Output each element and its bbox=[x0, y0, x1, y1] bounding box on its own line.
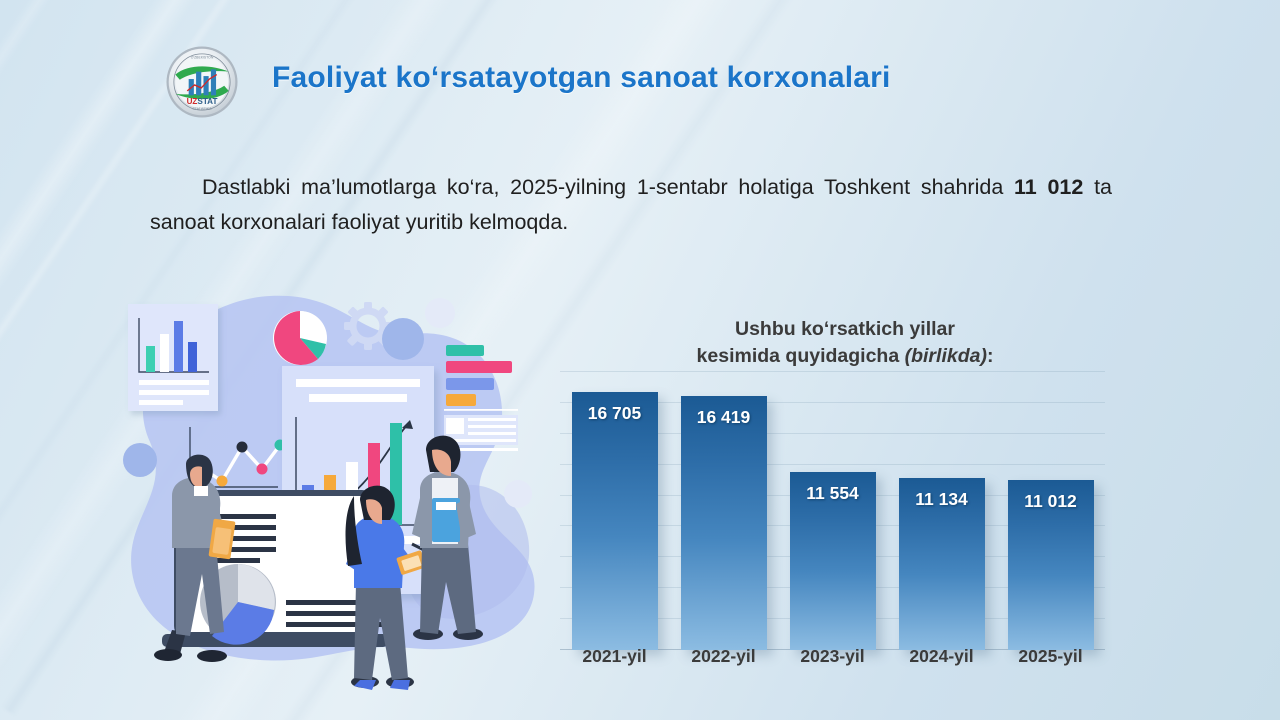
svg-text:STATISTIKA: STATISTIKA bbox=[193, 107, 213, 111]
chart-x-label: 2023-yil bbox=[778, 646, 887, 667]
chart-bar: 16 419 bbox=[681, 396, 767, 650]
chart-bar: 11 554 bbox=[790, 472, 876, 650]
chart-bar-value-label: 11 134 bbox=[899, 489, 985, 510]
chart-heading-line1: Ushbu ko‘rsatkich yillar bbox=[735, 318, 955, 340]
chart-heading-line2-after: : bbox=[987, 345, 994, 367]
paragraph-before: Dastlabki ma’lumotlarga ko‘ra, 2025-yiln… bbox=[202, 175, 1014, 199]
chart-x-axis-labels: 2021-yil2022-yil2023-yil2024-yil2025-yil bbox=[560, 646, 1105, 676]
chart-bar: 11 012 bbox=[1008, 480, 1094, 650]
chart-bar: 16 705 bbox=[572, 392, 658, 650]
intro-paragraph: Dastlabki ma’lumotlarga ko‘ra, 2025-yiln… bbox=[150, 170, 1112, 240]
page-title: Faoliyat ko‘rsatayotgan sanoat korxonala… bbox=[272, 61, 891, 95]
chart-x-label: 2021-yil bbox=[560, 646, 669, 667]
chart-heading-unit: (birlikda) bbox=[905, 345, 987, 367]
chart-bar: 11 134 bbox=[899, 478, 985, 650]
pie-chart bbox=[273, 311, 327, 365]
bar-chart-plot: 16 70516 41911 55411 13411 012 bbox=[560, 372, 1105, 650]
chart-bar-value-label: 11 012 bbox=[1008, 491, 1094, 512]
paragraph-highlight-value: 11 012 bbox=[1014, 175, 1083, 199]
svg-text:UZSTAT: UZSTAT bbox=[187, 97, 218, 106]
infographic-slide: O‘ZBEKISTON STATISTIKA UZSTAT Faoliyat k… bbox=[0, 0, 1280, 720]
bar-chart-card bbox=[128, 304, 218, 411]
svg-text:O‘ZBEKISTON: O‘ZBEKISTON bbox=[191, 55, 214, 59]
chart-x-label: 2025-yil bbox=[996, 646, 1105, 667]
chart-gridline bbox=[560, 371, 1105, 372]
chart-x-label: 2022-yil bbox=[669, 646, 778, 667]
chart-x-label: 2024-yil bbox=[887, 646, 996, 667]
chart-heading: Ushbu ko‘rsatkich yillar kesimida quyida… bbox=[650, 316, 1040, 370]
uzstat-logo: O‘ZBEKISTON STATISTIKA UZSTAT bbox=[165, 45, 239, 119]
data-analytics-illustration bbox=[110, 282, 570, 697]
chart-bar-value-label: 11 554 bbox=[790, 483, 876, 504]
chart-bar-value-label: 16 705 bbox=[572, 403, 658, 424]
chart-bar-value-label: 16 419 bbox=[681, 407, 767, 428]
chart-heading-line2-before: kesimida quyidagicha bbox=[697, 345, 905, 367]
